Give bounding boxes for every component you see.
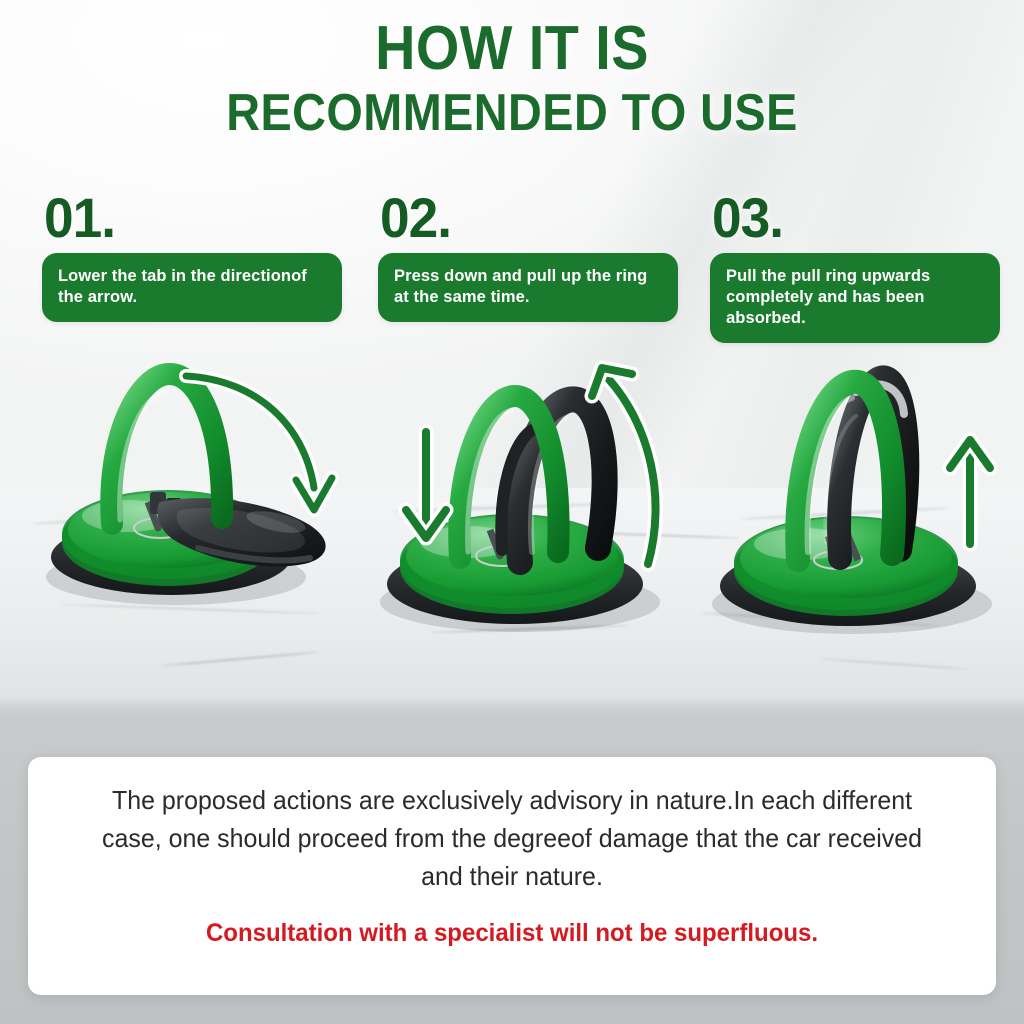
down-arrow-icon	[406, 432, 446, 538]
step-2-label: Press down and pull up the ring at the s…	[378, 253, 678, 322]
step-3: 03. Pull the pull ring upwards completel…	[710, 190, 1010, 343]
step-2: 02. Press down and pull up the ring at t…	[378, 190, 678, 322]
step-3-number: 03.	[712, 190, 995, 246]
page-title: HOW IT IS RECOMMENDED TO USE	[0, 18, 1024, 140]
product-image-step-1	[8, 352, 356, 682]
step-3-label: Pull the pull ring upwards completely an…	[710, 253, 1000, 343]
countertop-edge	[0, 694, 1024, 716]
warning-text: Consultation with a specialist will not …	[88, 917, 937, 949]
step-1-label: Lower the tab in the directionof the arr…	[42, 253, 342, 322]
step-2-number: 02.	[380, 190, 663, 246]
title-line-1: HOW IT IS	[51, 18, 973, 80]
disclaimer-text: The proposed actions are exclusively adv…	[88, 781, 937, 895]
up-arrow-icon	[950, 440, 990, 544]
step-1-number: 01.	[44, 190, 327, 246]
product-image-step-2	[352, 352, 700, 682]
infographic-page: HOW IT IS RECOMMENDED TO USE 01. Lower t…	[0, 0, 1024, 1024]
step-1: 01. Lower the tab in the directionof the…	[42, 190, 342, 322]
title-line-2: RECOMMENDED TO USE	[51, 86, 973, 140]
disclaimer-card: The proposed actions are exclusively adv…	[28, 757, 996, 995]
product-image-step-3	[688, 352, 1024, 682]
